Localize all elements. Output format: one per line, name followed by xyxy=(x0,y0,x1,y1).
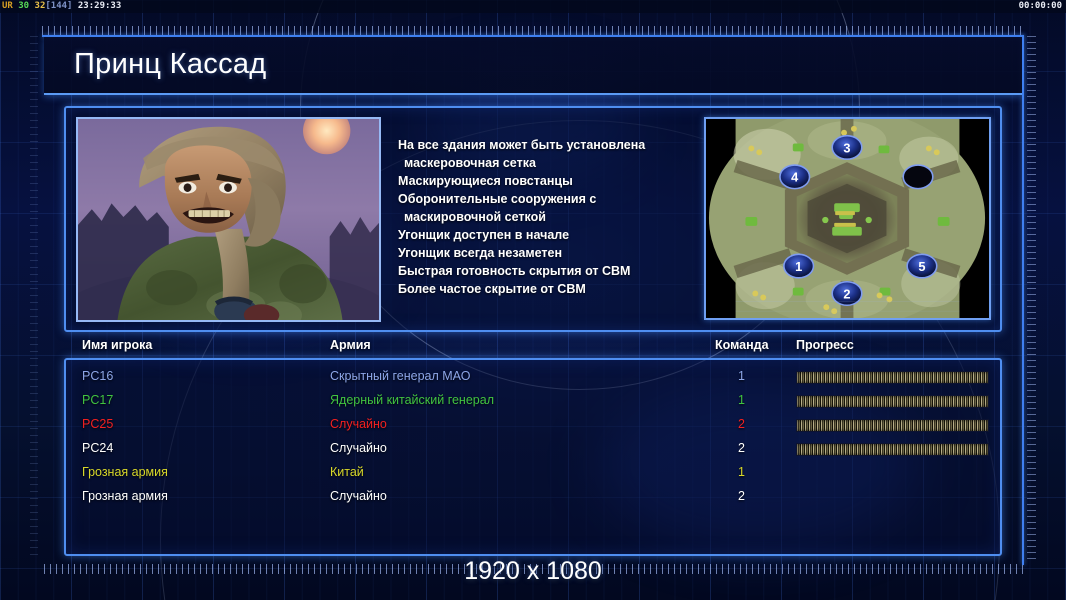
player-progress-bar xyxy=(796,371,989,384)
description-line: Оборонительные сооружения с xyxy=(398,190,698,208)
player-team[interactable]: 2 xyxy=(738,417,745,431)
description-line: Угонщик всегда незаметен xyxy=(398,244,698,262)
player-table: PC16 Скрытный генерал МАО 1 PC17 Ядерный… xyxy=(64,358,1002,556)
description-line: Маскирующиеся повстанцы xyxy=(398,172,698,190)
general-description: На все здания может быть установлена мас… xyxy=(398,136,698,298)
player-name: Грозная армия xyxy=(82,489,168,503)
player-army[interactable]: Случайно xyxy=(330,417,387,431)
hud-label-ur: UR xyxy=(2,1,13,11)
player-team[interactable]: 2 xyxy=(738,441,745,455)
player-army[interactable]: Скрытный генерал МАО xyxy=(330,369,470,383)
column-header-team: Команда xyxy=(715,338,769,352)
description-line: Угонщик доступен в начале xyxy=(398,226,698,244)
player-progress-bar xyxy=(796,419,989,432)
player-progress-bar xyxy=(796,395,989,408)
table-row[interactable]: PC25 Случайно 2 xyxy=(66,414,1000,438)
general-portrait xyxy=(76,117,381,322)
table-row[interactable]: Грозная армия Случайно 2 xyxy=(66,486,1000,510)
table-row[interactable]: Грозная армия Китай 1 xyxy=(66,462,1000,486)
ruler-top xyxy=(42,26,1024,35)
player-army[interactable]: Случайно xyxy=(330,489,387,503)
player-army[interactable]: Китай xyxy=(330,465,364,479)
page-title: Принц Кассад xyxy=(74,48,267,81)
hud-top-bar: UR 30 32[144] 23:29:33 00:00:00 xyxy=(0,0,1066,13)
hud-timer: 00:00:00 xyxy=(1019,1,1062,12)
general-info-panel: На все здания может быть установлена мас… xyxy=(64,106,1002,332)
hud-value-c: [144] xyxy=(45,1,72,11)
svg-text:2: 2 xyxy=(843,286,850,301)
player-army[interactable]: Ядерный китайский генерал xyxy=(330,393,494,407)
table-row[interactable]: PC16 Скрытный генерал МАО 1 xyxy=(66,366,1000,390)
ruler-left xyxy=(30,36,38,556)
player-team[interactable]: 2 xyxy=(738,489,745,503)
column-header-progress: Прогресс xyxy=(796,338,854,352)
player-name: Грозная армия xyxy=(82,465,168,479)
table-row[interactable]: PC17 Ядерный китайский генерал 1 xyxy=(66,390,1000,414)
player-name: PC25 xyxy=(82,417,113,431)
title-panel: Принц Кассад xyxy=(44,37,1022,95)
player-name: PC17 xyxy=(82,393,113,407)
svg-text:1: 1 xyxy=(795,259,802,274)
description-line: Быстрая готовность скрытия от СВМ xyxy=(398,262,698,280)
player-name: PC24 xyxy=(82,441,113,455)
column-header-name: Имя игрока xyxy=(82,338,152,352)
portrait-image xyxy=(78,119,379,320)
svg-text:5: 5 xyxy=(918,259,925,274)
map-preview-image: 1 2 3 4 5 xyxy=(706,119,989,318)
column-header-army: Армия xyxy=(330,338,371,352)
description-line: На все здания может быть установлена xyxy=(398,136,698,154)
player-team[interactable]: 1 xyxy=(738,465,745,479)
player-army[interactable]: Случайно xyxy=(330,441,387,455)
ruler-right xyxy=(1027,36,1036,564)
game-lobby-screen: UR 30 32[144] 23:29:33 00:00:00 Принц Ка… xyxy=(0,0,1066,600)
hud-clock: 23:29:33 xyxy=(78,1,121,11)
description-line: Более частое скрытие от СВМ xyxy=(398,280,698,298)
hud-value-b: 32 xyxy=(35,1,46,11)
map-preview[interactable]: 1 2 3 4 5 xyxy=(704,117,991,320)
player-team[interactable]: 1 xyxy=(738,369,745,383)
hud-status-text: UR 30 32[144] 23:29:33 xyxy=(2,1,121,12)
svg-text:4: 4 xyxy=(791,170,799,185)
table-row[interactable]: PC24 Случайно 2 xyxy=(66,438,1000,462)
frame-line-right xyxy=(1022,35,1024,565)
player-name: PC16 xyxy=(82,369,113,383)
player-progress-bar xyxy=(796,443,989,456)
player-team[interactable]: 1 xyxy=(738,393,745,407)
hud-value-a: 30 xyxy=(18,1,29,11)
description-line: маскеровочная сетка xyxy=(398,154,698,172)
player-table-header: Имя игрока Армия Команда Прогресс xyxy=(64,338,1002,358)
description-line: маскировочной сеткой xyxy=(398,208,698,226)
svg-text:3: 3 xyxy=(843,140,850,155)
resolution-label: 1920 x 1080 xyxy=(0,557,1066,586)
